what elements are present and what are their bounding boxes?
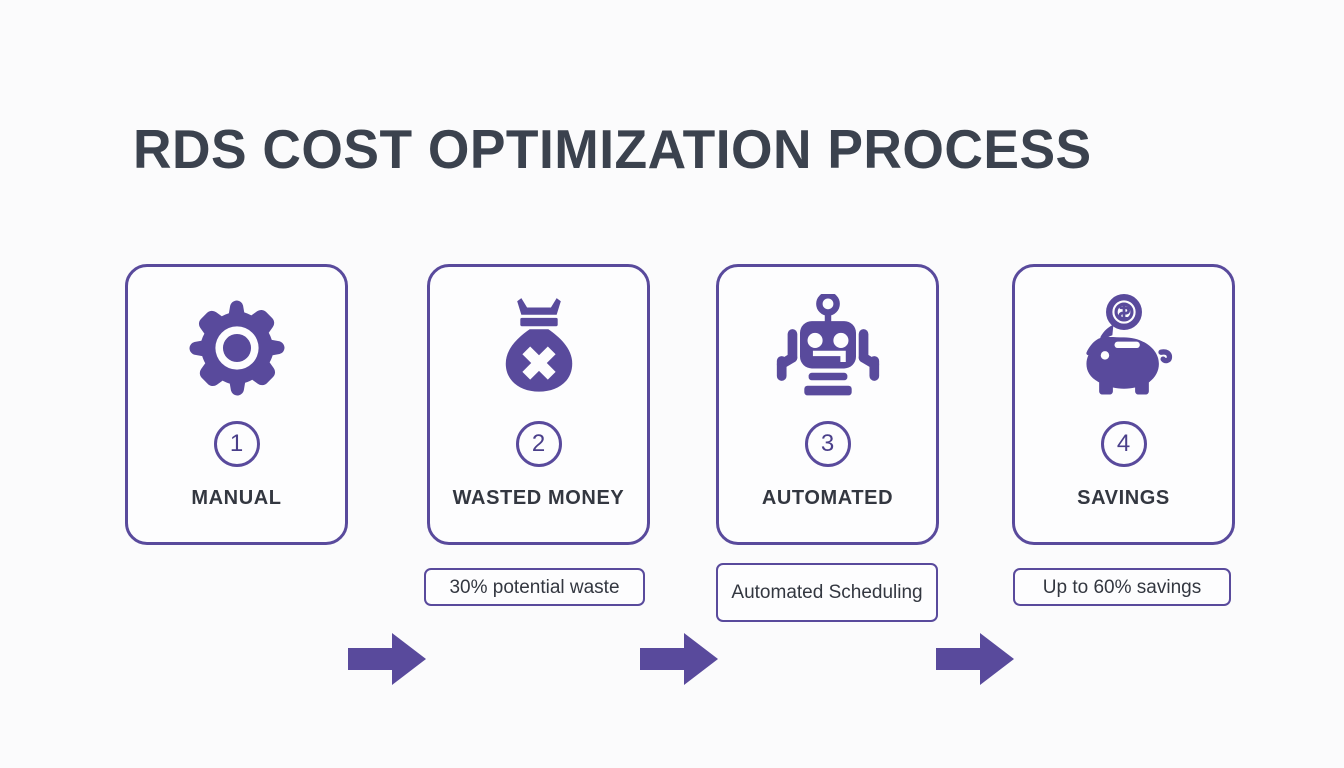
step-card-wasted-money[interactable]: 2 WASTED MONEY [427,264,650,545]
caption-chip-wasted-money: 30% potential waste [424,568,645,606]
gear-icon [183,273,291,423]
step-number-badge: 4 [1101,421,1147,467]
step-card-automated[interactable]: 3 AUTOMATED [716,264,939,545]
piggy-bank-icon [1069,273,1179,423]
caption-chip-savings: Up to 60% savings [1013,568,1231,606]
step-label: SAVINGS [1077,487,1170,510]
step-number-badge: 1 [214,421,260,467]
step-number-badge: 3 [805,421,851,467]
page-title: RDS COST OPTIMIZATION PROCESS [133,117,1092,181]
arrow-right-icon [640,631,718,687]
step-label: MANUAL [191,487,281,510]
step-number-badge: 2 [516,421,562,467]
arrow-right-icon [348,631,426,687]
step-label: AUTOMATED [762,487,893,510]
step-label: WASTED MONEY [453,487,625,510]
arrow-right-icon [936,631,1014,687]
money-bag-x-icon [487,273,591,423]
caption-chip-automated: Automated Scheduling [716,563,938,622]
robot-icon [772,273,884,423]
step-card-manual[interactable]: 1 MANUAL [125,264,348,545]
process-flow: 1 MANUAL 2 WASTED MONEY [0,264,1344,546]
step-card-savings[interactable]: 4 SAVINGS [1012,264,1235,545]
